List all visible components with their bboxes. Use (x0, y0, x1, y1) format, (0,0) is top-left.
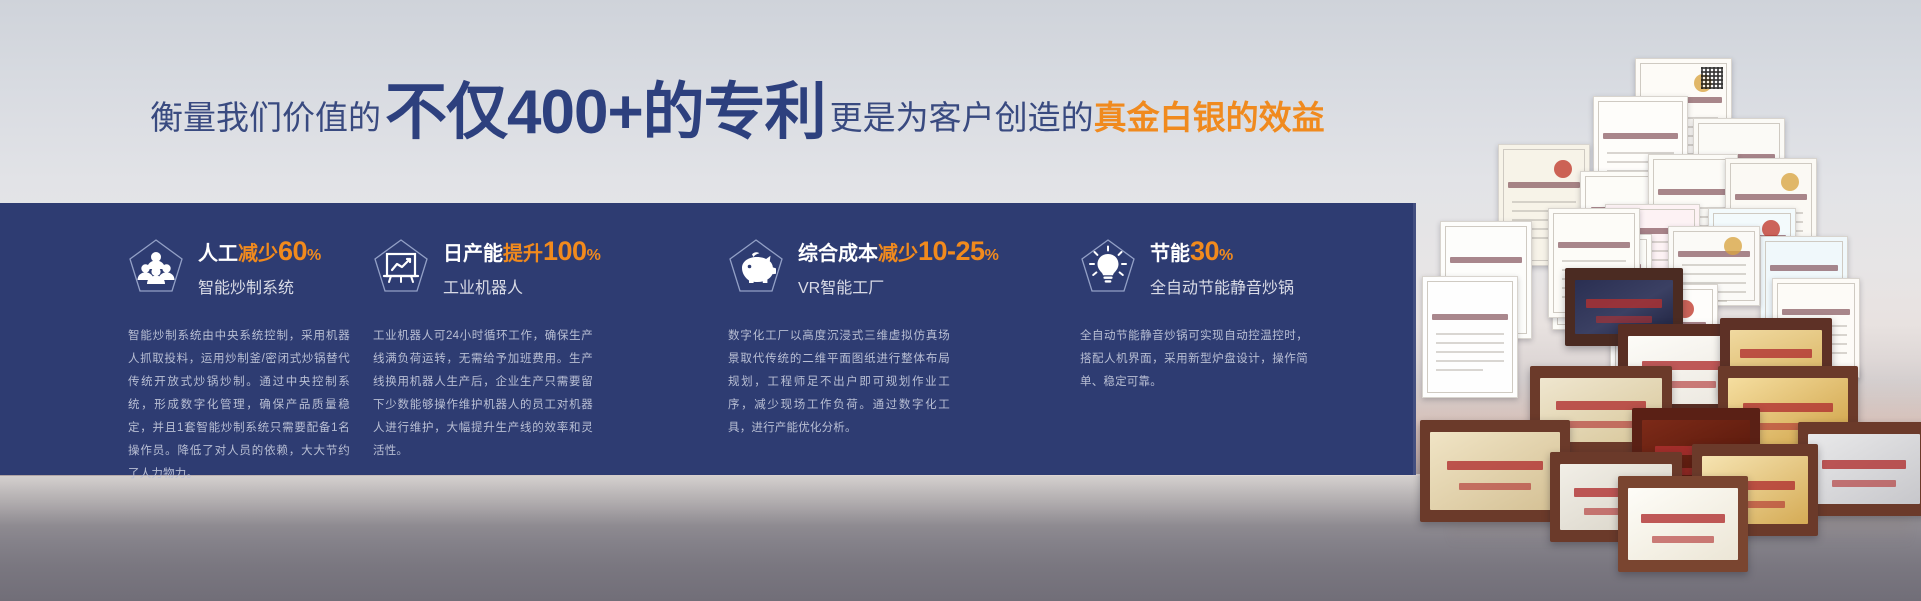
feature-panel: 人工减少60% 智能炒制系统 智能炒制系统由中央系统控制，采用机器人抓取投料，运… (0, 203, 1416, 475)
feature-card-3-stat: 综合成本减少10-25% (798, 236, 999, 267)
feature-card-2-subtitle: 工业机器人 (443, 274, 601, 298)
certificate-text-line (1436, 360, 1504, 362)
certificate-seal (1781, 173, 1799, 191)
certificate-item (1422, 276, 1518, 398)
feature-card-1-stat: 人工减少60% (198, 236, 321, 267)
certificate-title-bar (1603, 133, 1677, 139)
chart-board-icon (373, 238, 429, 296)
award-plaque (1618, 476, 1748, 572)
feature-card-4-header: 节能30% 全自动节能静音炒锅 (1080, 231, 1414, 303)
certificate-text-line (1436, 342, 1504, 344)
feature-card-3-body: 数字化工厂以高度沉浸式三维虚拟仿真场景取代传统的二维平面图纸进行整体布局规划，工… (728, 325, 950, 440)
headline-middle: 更是为客户创造的 (830, 101, 1094, 134)
certificate-title-bar (1782, 309, 1851, 315)
certificate-title-bar (1770, 265, 1839, 271)
plaque-subtitle-bar (1596, 316, 1653, 323)
feature-card-2: 日产能提升100% 工业机器人 工业机器人可24小时循环工作，确保生产线满负荷运… (355, 203, 710, 475)
certificate-title-bar (1450, 257, 1522, 263)
certificate-text-line (1436, 333, 1504, 335)
feature-card-4-subtitle: 全自动节能静音炒锅 (1150, 274, 1294, 298)
certificate-title-bar (1735, 194, 1807, 200)
plaque-subtitle-bar (1832, 480, 1895, 487)
plaque-title-bar (1822, 460, 1907, 469)
feature-card-3: 综合成本减少10-25% VR智能工厂 数字化工厂以高度沉浸式三维虚拟仿真场景取… (710, 203, 1062, 475)
plaque-title-bar (1740, 349, 1812, 358)
feature-card-1-subtitle: 智能炒制系统 (198, 274, 321, 298)
lightbulb-icon (1080, 238, 1136, 296)
plaque-subtitle-bar (1567, 421, 1635, 428)
feature-card-1-header: 人工减少60% 智能炒制系统 (128, 231, 355, 303)
plaque-subtitle-bar (1459, 483, 1531, 490)
plaque-title-bar (1586, 299, 1662, 308)
award-plaque (1420, 420, 1570, 522)
feature-card-list: 人工减少60% 智能炒制系统 智能炒制系统由中央系统控制，采用机器人抓取投料，运… (0, 203, 1416, 475)
feature-card-4-stat: 节能30% (1150, 236, 1294, 267)
plaque-title-bar (1641, 514, 1724, 523)
feature-card-2-body: 工业机器人可24小时循环工作，确保生产线满负荷运转，无需给予加班费用。生产线换用… (373, 325, 593, 463)
headline-emphasis: 不仅400+的专利 (385, 82, 826, 144)
plaque-face (1808, 434, 1920, 504)
certificate-title-bar (1508, 182, 1580, 188)
certificate-text-line (1436, 369, 1483, 371)
certificate-qr-code (1701, 67, 1723, 89)
certificate-border (1427, 281, 1513, 393)
page-title: 衡量我们价值的 不仅400+的专利 更是为客户创造的 真金白银的效益 (150, 78, 1325, 140)
feature-card-1-text: 人工减少60% 智能炒制系统 (198, 236, 321, 297)
plaque-face (1628, 488, 1738, 560)
certificate-title-bar (1432, 314, 1507, 320)
people-group-icon (128, 238, 184, 296)
certificate-text-line (1512, 201, 1577, 203)
feature-card-2-header: 日产能提升100% 工业机器人 (373, 231, 710, 303)
certificate-seal (1724, 237, 1742, 255)
plaque-subtitle-bar (1652, 536, 1714, 543)
feature-card-4-body: 全自动节能静音炒锅可实现自动控温控时，搭配人机界面，采用新型炉盘设计，操作简单、… (1080, 325, 1308, 394)
feature-card-3-header: 综合成本减少10-25% VR智能工厂 (728, 231, 1062, 303)
feature-card-2-text: 日产能提升100% 工业机器人 (443, 236, 601, 297)
certificate-title-bar (1658, 189, 1728, 195)
feature-card-1: 人工减少60% 智能炒制系统 智能炒制系统由中央系统控制，采用机器人抓取投料，运… (0, 203, 355, 475)
certificate-and-plaque-stack (1420, 36, 1921, 496)
promo-banner: 衡量我们价值的 不仅400+的专利 更是为客户创造的 真金白银的效益 (0, 0, 1921, 601)
certificate-title-bar (1558, 242, 1630, 248)
certificate-text-line (1682, 264, 1747, 266)
headline-lead: 衡量我们价值的 (150, 101, 381, 134)
feature-card-4: 节能30% 全自动节能静音炒锅 全自动节能静音炒锅可实现自动控温控时，搭配人机界… (1062, 203, 1414, 475)
plaque-face (1430, 432, 1560, 510)
certificate-text-line (1436, 351, 1504, 353)
certificate-text-line (1562, 260, 1627, 262)
certificate-seal (1554, 160, 1572, 178)
feature-card-2-stat: 日产能提升100% (443, 236, 601, 267)
feature-card-3-text: 综合成本减少10-25% VR智能工厂 (798, 236, 999, 297)
feature-card-1-body: 智能炒制系统由中央系统控制，采用机器人抓取投料，运用炒制釜/密闭式炒锅替代传统开… (128, 325, 350, 486)
headline-accent: 真金白银的效益 (1094, 101, 1325, 134)
plaque-title-bar (1447, 461, 1543, 470)
piggy-bank-icon (728, 238, 784, 296)
feature-card-4-text: 节能30% 全自动节能静音炒锅 (1150, 236, 1294, 297)
certificate-text-line (1682, 273, 1747, 275)
feature-card-3-subtitle: VR智能工厂 (798, 274, 999, 298)
